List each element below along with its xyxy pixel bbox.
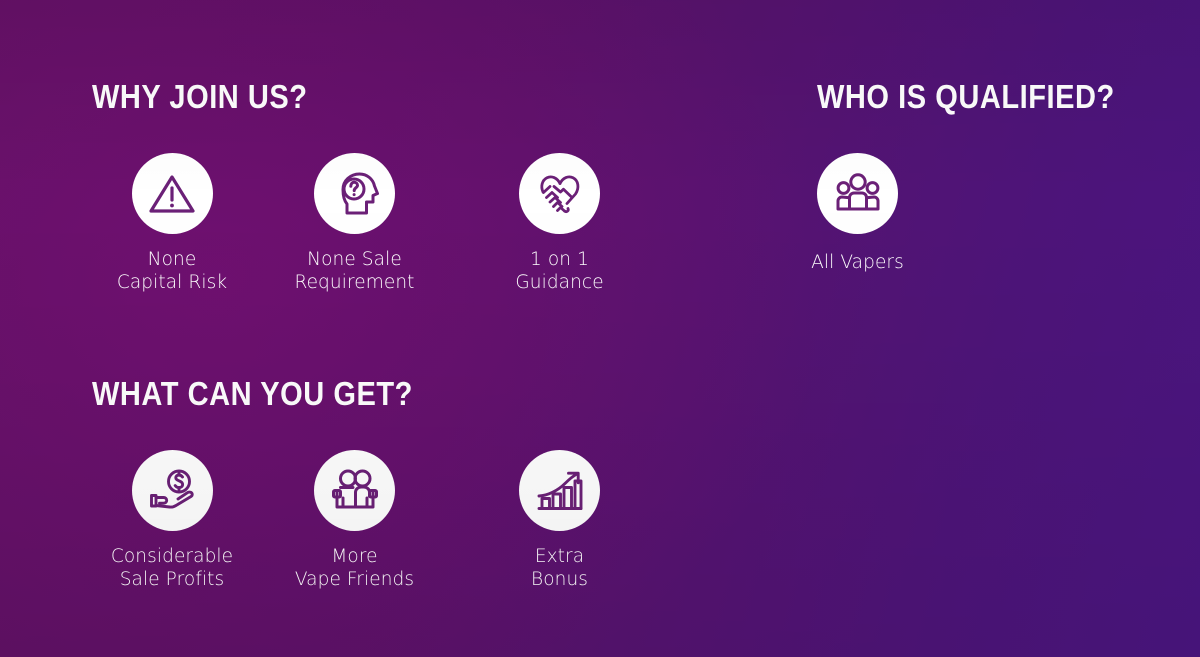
section-who-is-qualified: WHO IS QUALIFIED? All Vapers: [817, 80, 1155, 275]
feature-label: 1 on 1 Guidance: [515, 249, 603, 295]
warning-triangle-icon: [132, 153, 213, 234]
feature-label: None Capital Risk: [117, 249, 227, 295]
section-what-can-you-get: WHAT CAN YOU GET? Considerable Sale Prof…: [92, 377, 662, 592]
handshake-heart-icon: [519, 153, 600, 234]
feature-item[interactable]: All Vapers: [817, 153, 898, 275]
feature-item[interactable]: 1 on 1 Guidance: [457, 153, 662, 295]
feature-label: More Vape Friends: [295, 546, 414, 592]
section-title-why-join-us: WHY JOIN US?: [92, 80, 594, 113]
section-title-who-is-qualified: WHO IS QUALIFIED?: [817, 80, 1115, 113]
people-group-icon: [817, 153, 898, 234]
feature-item[interactable]: None Sale Requirement: [252, 153, 457, 295]
item-list-what-can-you-get: Considerable Sale Profits: [92, 450, 662, 592]
growth-chart-icon: [519, 450, 600, 531]
hand-money-icon: [132, 450, 213, 531]
feature-item[interactable]: Extra Bonus: [457, 450, 662, 592]
feature-label: Considerable Sale Profits: [111, 546, 233, 592]
section-title-what-can-you-get: WHAT CAN YOU GET?: [92, 377, 594, 410]
feature-label: Extra Bonus: [531, 546, 588, 592]
section-why-join-us: WHY JOIN US? None Capital Risk: [92, 80, 662, 295]
item-list-why-join-us: None Capital Risk None Sale Requirement: [92, 153, 662, 295]
two-friends-icon: [314, 450, 395, 531]
feature-item[interactable]: None Capital Risk: [92, 153, 252, 295]
feature-label: All Vapers: [811, 252, 904, 275]
promo-poster: WHY JOIN US? None Capital Risk: [0, 0, 1200, 657]
feature-label: None Sale Requirement: [294, 249, 414, 295]
item-list-who-is-qualified: All Vapers: [817, 153, 1155, 275]
head-question-icon: [314, 153, 395, 234]
feature-item[interactable]: More Vape Friends: [252, 450, 457, 592]
feature-item[interactable]: Considerable Sale Profits: [92, 450, 252, 592]
